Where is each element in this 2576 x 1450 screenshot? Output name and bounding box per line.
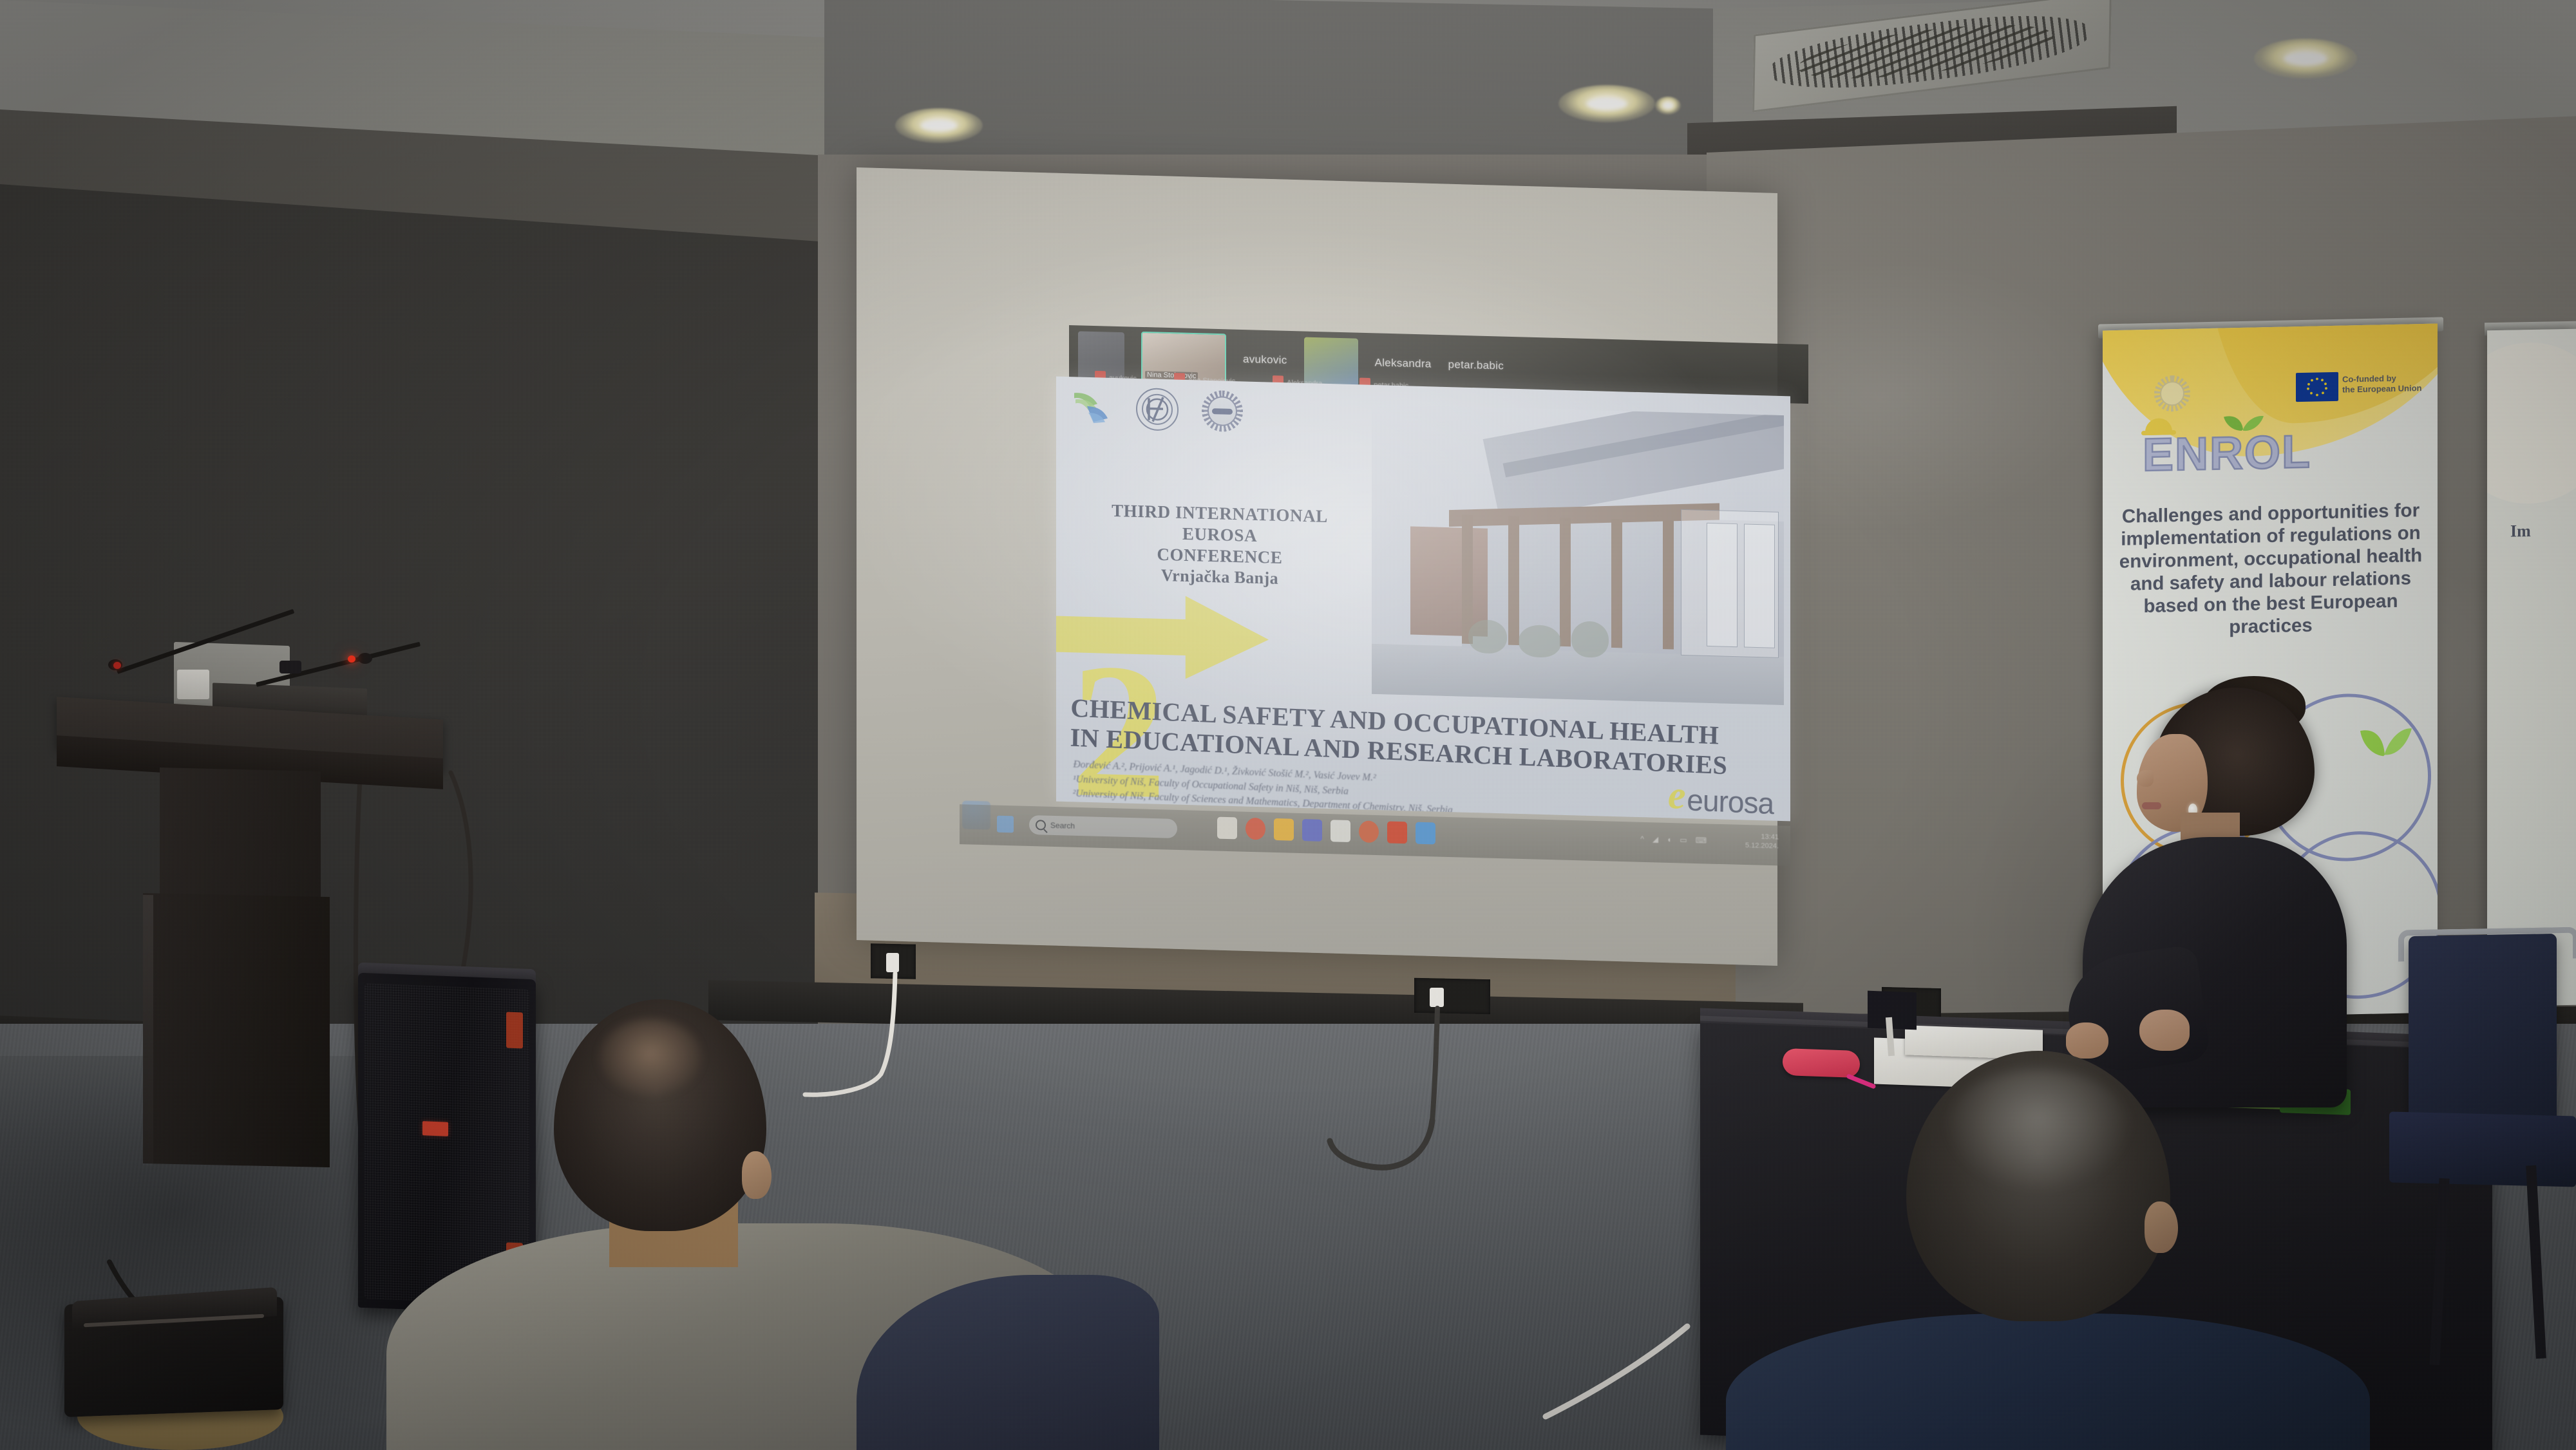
wall-left-dark-panel [0,184,857,1100]
chevron-up-icon[interactable]: ^ [1640,834,1644,843]
eu-flag-icon [2296,372,2338,402]
building-window [1707,523,1738,647]
search-icon [1036,820,1046,830]
green-leaf-icon [2220,411,2265,433]
banner2-partial-text: Im [2510,522,2531,541]
green-leaf-icon [2355,718,2414,760]
lectern-water-bottle [177,670,209,699]
taskbar-app-icons [1217,817,1435,845]
keyboard-icon[interactable]: ⌨ [1696,836,1707,845]
lectern-base [143,893,330,1167]
battery-icon[interactable]: ▭ [1680,835,1687,844]
occupational-safety-gear-logo-icon [1202,390,1243,433]
building-column [1508,516,1519,645]
eurosa-logo: e eurosa [1667,780,1774,816]
conference-chair-seat[interactable] [2389,1111,2576,1187]
eu-stars [2296,372,2338,402]
teams-participant-aleksandra[interactable]: Aleksandra [1375,356,1432,370]
wave-logo-icon [1072,389,1113,426]
eurosa-logo-mark: e [1667,780,1685,813]
audience-member-left-ear [742,1151,772,1199]
faculty-building-photo [1372,404,1784,705]
microphone-mount [279,661,301,673]
word-icon[interactable] [1331,820,1350,842]
university-seal-logo-icon [1136,388,1179,431]
presenter-hand-right [2139,1010,2190,1051]
taskbar-clock[interactable]: 13:41 5.12.2024. [1745,832,1779,851]
enrol-description: Challenges and opportunities for impleme… [2118,499,2423,641]
volume-icon[interactable]: ◖ [1667,835,1671,844]
slide-logo-row [1072,386,1243,433]
downlight [1558,85,1655,122]
file-explorer-icon[interactable] [1217,817,1237,840]
clock-time: 13:41 [1745,832,1779,842]
speaker-accent-top [506,1012,523,1049]
microphone-right-head [358,653,372,664]
teams-participant-label: petar.babic [1448,358,1504,372]
enrol-logo: ENROL [2143,429,2311,478]
lectern-base-highlight [143,895,153,1165]
building-window [1744,523,1775,648]
teams-icon[interactable] [1302,819,1322,842]
building-bush [1468,619,1507,654]
building-bush [1519,625,1561,658]
building-bush [1571,621,1609,658]
microphone-right-led [348,655,355,663]
start-button[interactable] [997,816,1014,833]
chrome-icon[interactable] [1245,818,1265,840]
folder-icon[interactable] [1274,818,1294,841]
search-placeholder: Search [1050,821,1075,831]
search-input[interactable]: Search [1029,815,1177,838]
wall-outlet-center[interactable] [1414,978,1490,1014]
presentation-slide: THIRD INTERNATIONAL EUROSA CONFERENCE Vr… [1056,377,1790,822]
conference-title-line1: THIRD INTERNATIONAL EUROSA [1112,501,1328,545]
conference-title-line2: CONFERENCE [1157,545,1282,567]
wall-outlet-left-plug [886,953,899,972]
jbl-brand-icon [422,1121,448,1136]
microphone-left-led [113,662,121,669]
teams-participant-label: Aleksandra [1375,356,1432,370]
browser-icon[interactable] [1359,820,1379,843]
downlight [895,108,983,143]
cofunding-line2: the European Union [2342,383,2438,395]
secondary-roll-up-banner: Im [2487,329,2576,1006]
teams-participant-label: avukovic [1243,353,1287,367]
banner2-curve [2487,341,2576,505]
conference-room-photo: Nina Stojanovic avukovic Aleksandra peta… [0,0,2576,1450]
acrobat-icon[interactable] [1387,821,1407,843]
wall-outlet-center-plug [1430,988,1444,1007]
powerpoint-icon[interactable] [1416,822,1435,845]
building-column [1462,515,1473,644]
taskbar-system-tray: ^ ◢ ◖ ▭ ⌨ [1640,834,1707,845]
eu-cofunding-note: Co-funded by the European Union [2342,373,2438,395]
presenter-nose [2137,770,2154,787]
seal-monogram [1137,389,1177,430]
enrol-wordmark: ENROL [2143,429,2311,478]
building-column [1611,519,1622,648]
presenter-lips [2142,802,2161,809]
presenter-hand-left [2066,1022,2108,1059]
audience-member-right-ear [2145,1201,2178,1253]
audience-member-right-grey-hair [1945,1069,2132,1191]
downlight [1655,97,1681,115]
teams-participant-petar[interactable]: petar.babic [1448,358,1504,372]
clock-date: 5.12.2024. [1745,841,1779,851]
eurosa-logo-wordmark: eurosa [1687,787,1774,816]
building-brick-wing [1410,526,1488,636]
conference-chair-back[interactable] [2409,934,2557,1123]
audience-member-left-scalp [599,1019,702,1096]
downlight [2254,39,2357,79]
slide-conference-title: THIRD INTERNATIONAL EUROSA CONFERENCE [1078,499,1361,570]
building-column [1663,520,1674,649]
teams-participant-avukovic[interactable]: avukovic [1243,353,1287,367]
network-icon[interactable]: ◢ [1653,834,1658,843]
building-column [1560,518,1571,646]
